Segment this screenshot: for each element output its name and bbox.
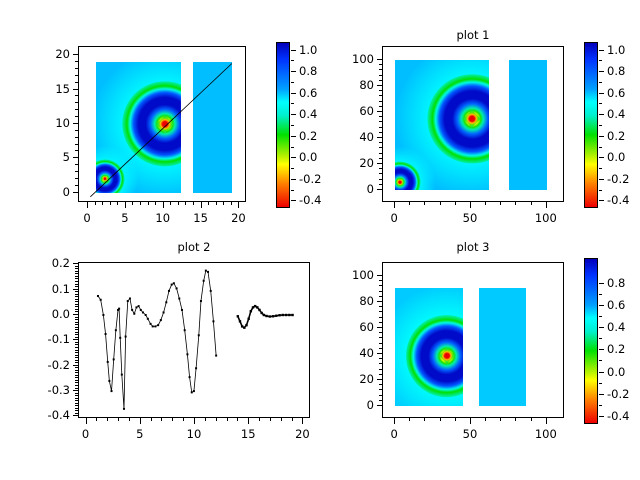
plot-3-axes	[382, 262, 564, 418]
plot-3-colorbar-gradient	[585, 259, 597, 423]
plot-3-ytick-minor	[379, 348, 382, 349]
plot-3-colorbar-tick	[599, 349, 604, 350]
plot-3-ytick-minor	[379, 395, 382, 396]
plot-3-colorbar-tick	[599, 416, 604, 417]
plot-3-colorbar-tick-label: -0.2	[607, 387, 640, 401]
plot-3-xtick-label: 50	[445, 427, 495, 441]
plot-3-xtick-minor	[424, 418, 425, 421]
plot-3-colorbar-tick-minor	[599, 360, 602, 361]
plot-3-title: plot 3	[403, 240, 543, 254]
plot-3-ytick-minor	[379, 343, 382, 344]
plot-3-xtick-minor	[531, 418, 532, 421]
plot-3-ytick-minor	[379, 374, 382, 375]
plot-3-ytick-label: 80	[318, 294, 374, 308]
plot-3-colorbar-tick-label: 0.2	[607, 342, 640, 356]
plot-3-ytick-minor	[379, 327, 382, 328]
plot-3-xtick-minor	[546, 418, 547, 421]
plot-3-ytick-label: 20	[318, 372, 374, 386]
plot-3-colorbar-tick	[599, 394, 604, 395]
plot-3-ytick-minor	[379, 384, 382, 385]
plot-3-colorbar-tick-minor	[599, 316, 602, 317]
plot-3-colorbar-tick-label: -0.4	[607, 409, 640, 423]
plot-3-ytick-minor	[379, 358, 382, 359]
plot-3-xtick-minor	[394, 418, 395, 421]
plot-3-ytick-minor	[379, 301, 382, 302]
plot-3-colorbar-tick	[599, 305, 604, 306]
plot-3-block-background	[479, 288, 526, 406]
plot-3-xtick-label: 100	[521, 427, 571, 441]
plot-3-colorbar-tick	[599, 372, 604, 373]
plot-3-xtick-minor	[455, 418, 456, 421]
plot-3-colorbar-tick	[599, 327, 604, 328]
plot-3-ytick-minor	[379, 363, 382, 364]
plot-3-ytick-minor	[379, 389, 382, 390]
plot-3-ytick-minor	[379, 306, 382, 307]
plot-3-colorbar	[584, 258, 598, 424]
plot-3-colorbar-tick-minor	[599, 338, 602, 339]
plot-3-ytick-minor	[379, 280, 382, 281]
plot-3-ytick-label: 0	[318, 398, 374, 412]
plot-3-ytick-minor	[379, 369, 382, 370]
plot-3-colorbar-tick	[599, 283, 604, 284]
plot-3-ytick-minor	[379, 311, 382, 312]
figure-canvas: 05101520051015201.00.80.60.40.20.0-0.2-0…	[0, 0, 640, 480]
plot-3-ytick-minor	[379, 405, 382, 406]
plot-3-ytick-label: 100	[318, 268, 374, 282]
plot-3-ytick-minor	[379, 317, 382, 318]
plot-3-ytick-minor	[379, 400, 382, 401]
plot-3-xtick-minor	[485, 418, 486, 421]
plot-3-colorbar-tick-label: 0.8	[607, 276, 640, 290]
plot-3-ytick-label: 60	[318, 320, 374, 334]
plot-3-colorbar-tick-label: 0.0	[607, 365, 640, 379]
plot-3-xtick-minor	[500, 418, 501, 421]
plot-3-ytick-minor	[379, 379, 382, 380]
plot-3-ytick-minor	[379, 332, 382, 333]
plot-3-ytick-minor	[379, 296, 382, 297]
plot-3-ytick-minor	[379, 275, 382, 276]
plot-3-image-block-0	[395, 288, 463, 406]
plot-3-xtick-minor	[515, 418, 516, 421]
plot-3-colorbar-tick-minor	[599, 405, 602, 406]
panel-plot-3: plot 30204060801000501000.80.60.40.20.0-…	[0, 0, 640, 480]
plot-3-colorbar-tick-minor	[599, 383, 602, 384]
plot-3-colorbar-tick-label: 0.4	[607, 320, 640, 334]
plot-3-ytick-minor	[379, 291, 382, 292]
plot-3-xtick-minor	[470, 418, 471, 421]
plot-3-ytick-minor	[379, 353, 382, 354]
plot-3-ytick-minor	[379, 285, 382, 286]
plot-3-ytick-minor	[379, 337, 382, 338]
plot-3-ytick-label: 40	[318, 346, 374, 360]
plot-3-xtick-minor	[409, 418, 410, 421]
plot-3-xtick-label: 0	[369, 427, 419, 441]
plot-3-colorbar-tick-label: 0.6	[607, 298, 640, 312]
plot-3-colorbar-tick-minor	[599, 294, 602, 295]
plot-3-ytick-minor	[379, 322, 382, 323]
plot-3-image-block-1	[479, 288, 526, 406]
plot-3-xtick-minor	[440, 418, 441, 421]
